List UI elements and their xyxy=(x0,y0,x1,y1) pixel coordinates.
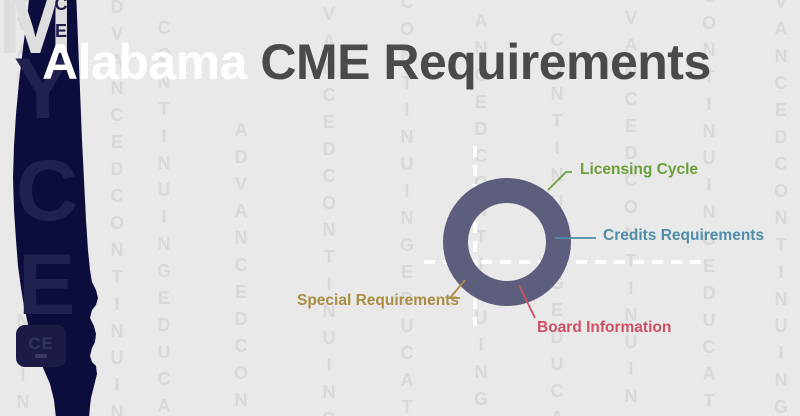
callout-label-special-requirements[interactable]: Special Requirements xyxy=(297,293,459,309)
callout-label-board-information[interactable]: Board Information xyxy=(537,320,671,336)
slide-canvas: ADVANCEDCONTINUINGEDUCATIONASSMYCEADVANC… xyxy=(0,0,800,416)
callout-label-licensing-cycle[interactable]: Licensing Cycle xyxy=(580,162,698,178)
donut-ring xyxy=(456,191,559,294)
callout-label-credits-requirements[interactable]: Credits Requirements xyxy=(603,228,764,244)
cme-requirements-donut xyxy=(0,0,800,416)
